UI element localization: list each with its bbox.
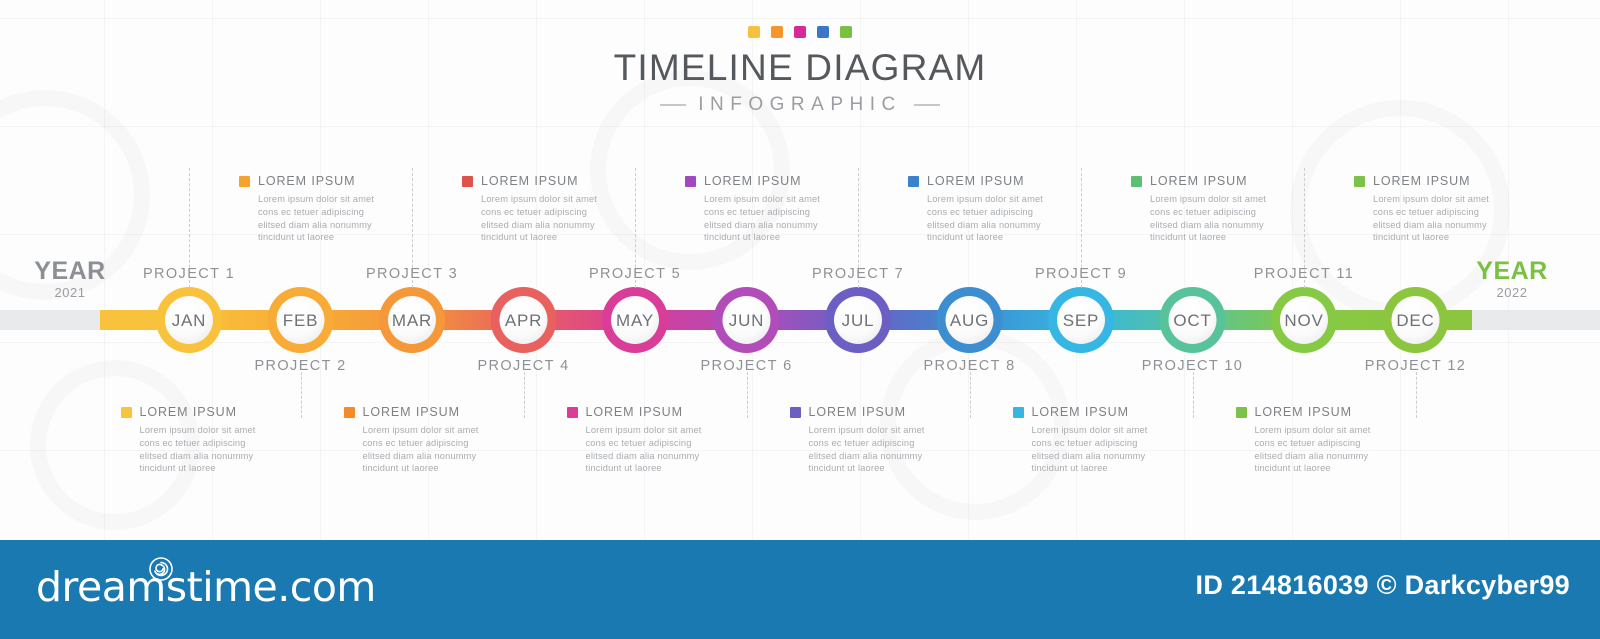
callout-header: LOREM IPSUM bbox=[1236, 405, 1411, 419]
project-caption-bottom-4: PROJECT 8 bbox=[885, 358, 1055, 374]
callout-body: Lorem ipsum dolor sit amet cons ec tetue… bbox=[927, 193, 1055, 244]
dreamstime-logo: dreamstime.com bbox=[36, 563, 376, 611]
timeline-node-apr[interactable]: APR bbox=[491, 287, 557, 353]
callout-title: LOREM IPSUM bbox=[1150, 174, 1247, 188]
callout-bullet-icon bbox=[567, 407, 578, 418]
timeline-svg: JANFEBMARAPRMAYJUNJULAUGSEPOCTNOVDEC bbox=[0, 236, 1600, 406]
callout-title: LOREM IPSUM bbox=[809, 405, 906, 419]
title-block: TIMELINE DIAGRAM INFOGRAPHIC bbox=[0, 26, 1600, 116]
title-dot-2 bbox=[771, 26, 783, 38]
connector-down-12 bbox=[1416, 372, 1417, 418]
callout-header: LOREM IPSUM bbox=[344, 405, 519, 419]
callout-bullet-icon bbox=[685, 176, 696, 187]
callout-top-4[interactable]: LOREM IPSUMLorem ipsum dolor sit amet co… bbox=[908, 174, 1083, 244]
connector-down-6 bbox=[747, 372, 748, 418]
timeline-node-jul[interactable]: JUL bbox=[825, 287, 891, 353]
callout-top-3[interactable]: LOREM IPSUMLorem ipsum dolor sit amet co… bbox=[685, 174, 860, 244]
callout-header: LOREM IPSUM bbox=[790, 405, 965, 419]
node-month-label: MAR bbox=[392, 311, 432, 330]
callout-bottom-2[interactable]: LOREM IPSUMLorem ipsum dolor sit amet co… bbox=[344, 405, 519, 475]
callout-body: Lorem ipsum dolor sit amet cons ec tetue… bbox=[586, 424, 714, 475]
timeline-node-aug[interactable]: AUG bbox=[937, 287, 1003, 353]
timeline-node-mar[interactable]: MAR bbox=[379, 287, 445, 353]
callout-body: Lorem ipsum dolor sit amet cons ec tetue… bbox=[1032, 424, 1160, 475]
title-dots bbox=[0, 26, 1600, 38]
callout-bullet-icon bbox=[1236, 407, 1247, 418]
callout-body: Lorem ipsum dolor sit amet cons ec tetue… bbox=[1150, 193, 1278, 244]
project-caption-top-5: PROJECT 9 bbox=[996, 266, 1166, 282]
callout-header: LOREM IPSUM bbox=[1013, 405, 1188, 419]
callout-title: LOREM IPSUM bbox=[586, 405, 683, 419]
subtitle-rule-right bbox=[914, 104, 940, 106]
node-month-label: AUG bbox=[950, 311, 989, 330]
callout-title: LOREM IPSUM bbox=[1373, 174, 1470, 188]
node-month-label: MAY bbox=[616, 311, 654, 330]
callout-header: LOREM IPSUM bbox=[1131, 174, 1306, 188]
callout-header: LOREM IPSUM bbox=[239, 174, 414, 188]
timeline-node-feb[interactable]: FEB bbox=[268, 287, 334, 353]
callout-header: LOREM IPSUM bbox=[908, 174, 1083, 188]
project-caption-bottom-3: PROJECT 6 bbox=[662, 358, 832, 374]
timeline-node-oct[interactable]: OCT bbox=[1160, 287, 1226, 353]
callout-title: LOREM IPSUM bbox=[704, 174, 801, 188]
page-title: TIMELINE DIAGRAM bbox=[0, 47, 1600, 89]
project-caption-top-4: PROJECT 7 bbox=[773, 266, 943, 282]
timeline-node-jun[interactable]: JUN bbox=[714, 287, 780, 353]
project-caption-top-2: PROJECT 3 bbox=[327, 266, 497, 282]
node-month-label: APR bbox=[505, 311, 542, 330]
callout-title: LOREM IPSUM bbox=[1255, 405, 1352, 419]
connector-down-4 bbox=[524, 372, 525, 418]
callout-title: LOREM IPSUM bbox=[363, 405, 460, 419]
callout-title: LOREM IPSUM bbox=[140, 405, 237, 419]
callout-bottom-3[interactable]: LOREM IPSUMLorem ipsum dolor sit amet co… bbox=[567, 405, 742, 475]
callout-bottom-6[interactable]: LOREM IPSUMLorem ipsum dolor sit amet co… bbox=[1236, 405, 1411, 475]
callout-bullet-icon bbox=[344, 407, 355, 418]
node-month-label: JUL bbox=[842, 311, 875, 330]
project-caption-bottom-2: PROJECT 4 bbox=[439, 358, 609, 374]
callout-header: LOREM IPSUM bbox=[685, 174, 860, 188]
callout-body: Lorem ipsum dolor sit amet cons ec tetue… bbox=[1255, 424, 1383, 475]
project-caption-bottom-6: PROJECT 12 bbox=[1331, 358, 1501, 374]
callout-body: Lorem ipsum dolor sit amet cons ec tetue… bbox=[809, 424, 937, 475]
callout-header: LOREM IPSUM bbox=[567, 405, 742, 419]
callout-header: LOREM IPSUM bbox=[121, 405, 296, 419]
callout-title: LOREM IPSUM bbox=[481, 174, 578, 188]
footer-watermark-bar: dreamstime.com ID 214816039 © Darkcyber9… bbox=[0, 540, 1600, 639]
timeline-node-nov[interactable]: NOV bbox=[1271, 287, 1337, 353]
timeline-node-sep[interactable]: SEP bbox=[1048, 287, 1114, 353]
callout-body: Lorem ipsum dolor sit amet cons ec tetue… bbox=[704, 193, 832, 244]
title-dot-4 bbox=[817, 26, 829, 38]
subtitle-row: INFOGRAPHIC bbox=[0, 94, 1600, 116]
subtitle-rule-left bbox=[660, 104, 686, 106]
page-subtitle: INFOGRAPHIC bbox=[698, 94, 901, 116]
callout-body: Lorem ipsum dolor sit amet cons ec tetue… bbox=[140, 424, 268, 475]
spiral-icon bbox=[148, 556, 174, 582]
callout-bullet-icon bbox=[908, 176, 919, 187]
callout-top-1[interactable]: LOREM IPSUMLorem ipsum dolor sit amet co… bbox=[239, 174, 414, 244]
timeline-node-may[interactable]: MAY bbox=[602, 287, 668, 353]
callout-top-2[interactable]: LOREM IPSUMLorem ipsum dolor sit amet co… bbox=[462, 174, 637, 244]
title-dot-3 bbox=[794, 26, 806, 38]
project-caption-top-1: PROJECT 1 bbox=[104, 266, 274, 282]
node-month-label: OCT bbox=[1173, 311, 1211, 330]
callout-bullet-icon bbox=[1354, 176, 1365, 187]
project-caption-bottom-1: PROJECT 2 bbox=[216, 358, 386, 374]
callout-top-6[interactable]: LOREM IPSUMLorem ipsum dolor sit amet co… bbox=[1354, 174, 1529, 244]
callout-bullet-icon bbox=[1013, 407, 1024, 418]
callout-body: Lorem ipsum dolor sit amet cons ec tetue… bbox=[1373, 193, 1501, 244]
callout-title: LOREM IPSUM bbox=[927, 174, 1024, 188]
node-month-label: FEB bbox=[283, 311, 318, 330]
callout-body: Lorem ipsum dolor sit amet cons ec tetue… bbox=[363, 424, 491, 475]
title-dot-5 bbox=[840, 26, 852, 38]
connector-down-2 bbox=[301, 372, 302, 418]
callout-bottom-5[interactable]: LOREM IPSUMLorem ipsum dolor sit amet co… bbox=[1013, 405, 1188, 475]
callout-bullet-icon bbox=[462, 176, 473, 187]
callout-bullet-icon bbox=[121, 407, 132, 418]
connector-down-10 bbox=[1193, 372, 1194, 418]
connector-down-8 bbox=[970, 372, 971, 418]
timeline-node-dec[interactable]: DEC bbox=[1383, 287, 1449, 353]
project-caption-bottom-5: PROJECT 10 bbox=[1108, 358, 1278, 374]
callout-bullet-icon bbox=[1131, 176, 1142, 187]
timeline-chain: JANFEBMARAPRMAYJUNJULAUGSEPOCTNOVDEC bbox=[0, 236, 1600, 406]
callout-body: Lorem ipsum dolor sit amet cons ec tetue… bbox=[481, 193, 609, 244]
node-month-label: JUN bbox=[729, 311, 764, 330]
callout-body: Lorem ipsum dolor sit amet cons ec tetue… bbox=[258, 193, 386, 244]
callout-header: LOREM IPSUM bbox=[462, 174, 637, 188]
callout-bullet-icon bbox=[790, 407, 801, 418]
callout-top-5[interactable]: LOREM IPSUMLorem ipsum dolor sit amet co… bbox=[1131, 174, 1306, 244]
callout-bottom-1[interactable]: LOREM IPSUMLorem ipsum dolor sit amet co… bbox=[121, 405, 296, 475]
infographic-canvas: TIMELINE DIAGRAM INFOGRAPHIC YEAR 2021 Y… bbox=[0, 0, 1600, 540]
project-caption-top-3: PROJECT 5 bbox=[550, 266, 720, 282]
timeline-node-jan[interactable]: JAN bbox=[156, 287, 222, 353]
image-credit: ID 214816039 © Darkcyber99 bbox=[1196, 570, 1570, 601]
callout-header: LOREM IPSUM bbox=[1354, 174, 1529, 188]
node-month-label: NOV bbox=[1284, 311, 1323, 330]
node-month-label: DEC bbox=[1396, 311, 1434, 330]
callout-bottom-4[interactable]: LOREM IPSUMLorem ipsum dolor sit amet co… bbox=[790, 405, 965, 475]
project-caption-top-6: PROJECT 11 bbox=[1219, 266, 1389, 282]
callout-bullet-icon bbox=[239, 176, 250, 187]
node-month-label: SEP bbox=[1063, 311, 1099, 330]
callout-title: LOREM IPSUM bbox=[258, 174, 355, 188]
node-month-label: JAN bbox=[172, 311, 207, 330]
title-dot-1 bbox=[748, 26, 760, 38]
callout-title: LOREM IPSUM bbox=[1032, 405, 1129, 419]
